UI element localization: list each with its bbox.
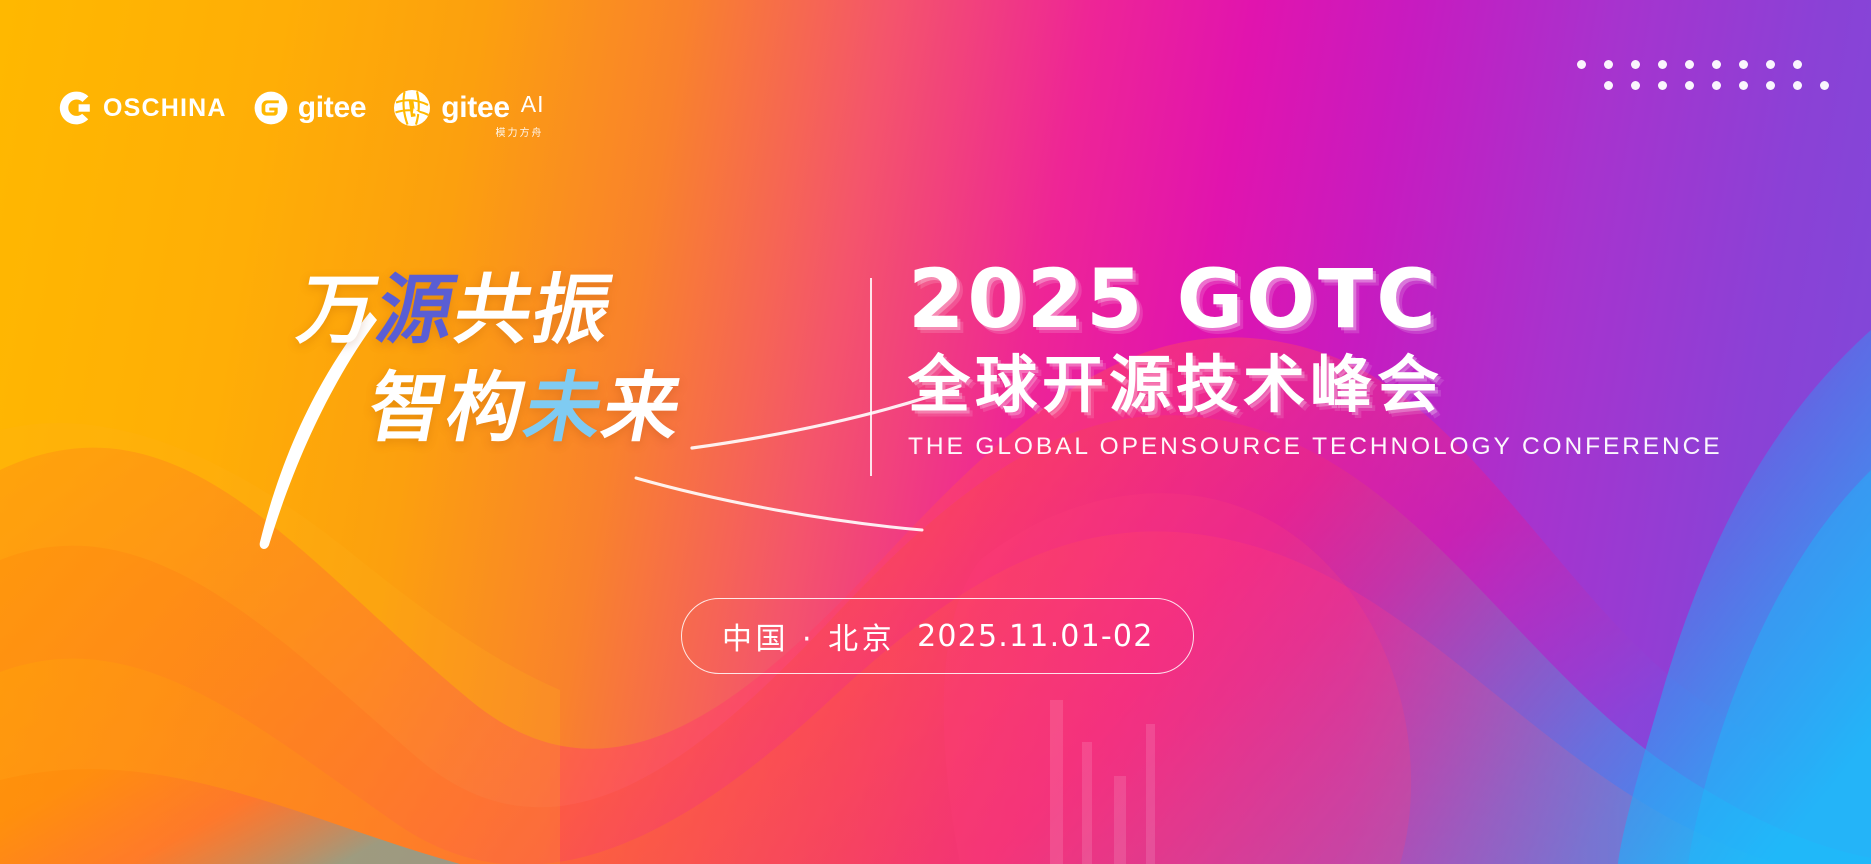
logo-oschina[interactable]: OSCHINA	[58, 90, 227, 126]
dot-icon	[1577, 60, 1586, 69]
logo-gitee[interactable]: gitee	[253, 90, 367, 126]
dot-icon	[1604, 81, 1613, 90]
event-title-chinese: 全球开源技术峰会	[908, 352, 1722, 419]
slogan-line-1: 万源共振	[293, 272, 868, 348]
event-date: 2025.11.01-02	[917, 619, 1153, 654]
logo-gitee-ai-text: gitee	[441, 91, 510, 125]
slogan-char-group-3: 共振	[447, 265, 620, 354]
dot-icon	[1766, 81, 1775, 90]
dot-icon	[1739, 81, 1748, 90]
dot-icon	[1820, 81, 1829, 90]
gitee-circle-icon	[253, 90, 289, 126]
dot-icon	[1793, 60, 1802, 69]
logo-ai-suffix: AI	[521, 88, 545, 118]
oschina-c-icon	[58, 90, 94, 126]
sponsor-logo-bar: OSCHINA gitee gitee AI	[58, 88, 544, 128]
vertical-divider	[870, 278, 872, 476]
dot-row	[1604, 81, 1829, 90]
dot-icon	[1766, 60, 1775, 69]
dot-icon	[1712, 60, 1721, 69]
dot-icon	[1631, 81, 1640, 90]
dot-icon	[1631, 60, 1640, 69]
dot-icon	[1658, 81, 1667, 90]
event-date-location-pill: 中国 · 北京 2025.11.01-02	[681, 598, 1194, 674]
gotc-conference-banner: OSCHINA gitee gitee AI	[0, 0, 1871, 864]
event-year-title: 2025 GOTC	[908, 262, 1722, 340]
logo-gitee-text: gitee	[298, 91, 367, 125]
event-location: 中国 · 北京	[722, 614, 895, 658]
event-title-english: THE GLOBAL OPENSOURCE TECHNOLOGY CONFERE…	[908, 433, 1722, 461]
dot-icon	[1793, 81, 1802, 90]
dot-icon	[1604, 60, 1613, 69]
logo-oschina-text: OSCHINA	[103, 94, 227, 123]
dot-icon	[1685, 81, 1694, 90]
dot-icon	[1658, 60, 1667, 69]
slogan-block: 万源共振 智构未来	[300, 272, 860, 472]
slogan-line-2: 智构未来	[363, 370, 868, 446]
slogan-char-group-4: 智构	[361, 363, 534, 452]
dot-icon	[1712, 81, 1721, 90]
dot-icon	[1685, 60, 1694, 69]
slogan-char-group-6: 来	[595, 363, 690, 452]
event-title-block: 2025 GOTC 全球开源技术峰会 THE GLOBAL OPENSOURCE…	[908, 262, 1722, 461]
dot-icon	[1739, 60, 1748, 69]
logo-gitee-ai[interactable]: gitee AI 模力方舟	[392, 88, 544, 128]
logo-gitee-ai-subtitle: 模力方舟	[495, 124, 543, 139]
gitee-ai-globe-icon	[392, 88, 432, 128]
dot-row	[1577, 60, 1829, 69]
dot-grid-decoration	[1577, 60, 1829, 90]
